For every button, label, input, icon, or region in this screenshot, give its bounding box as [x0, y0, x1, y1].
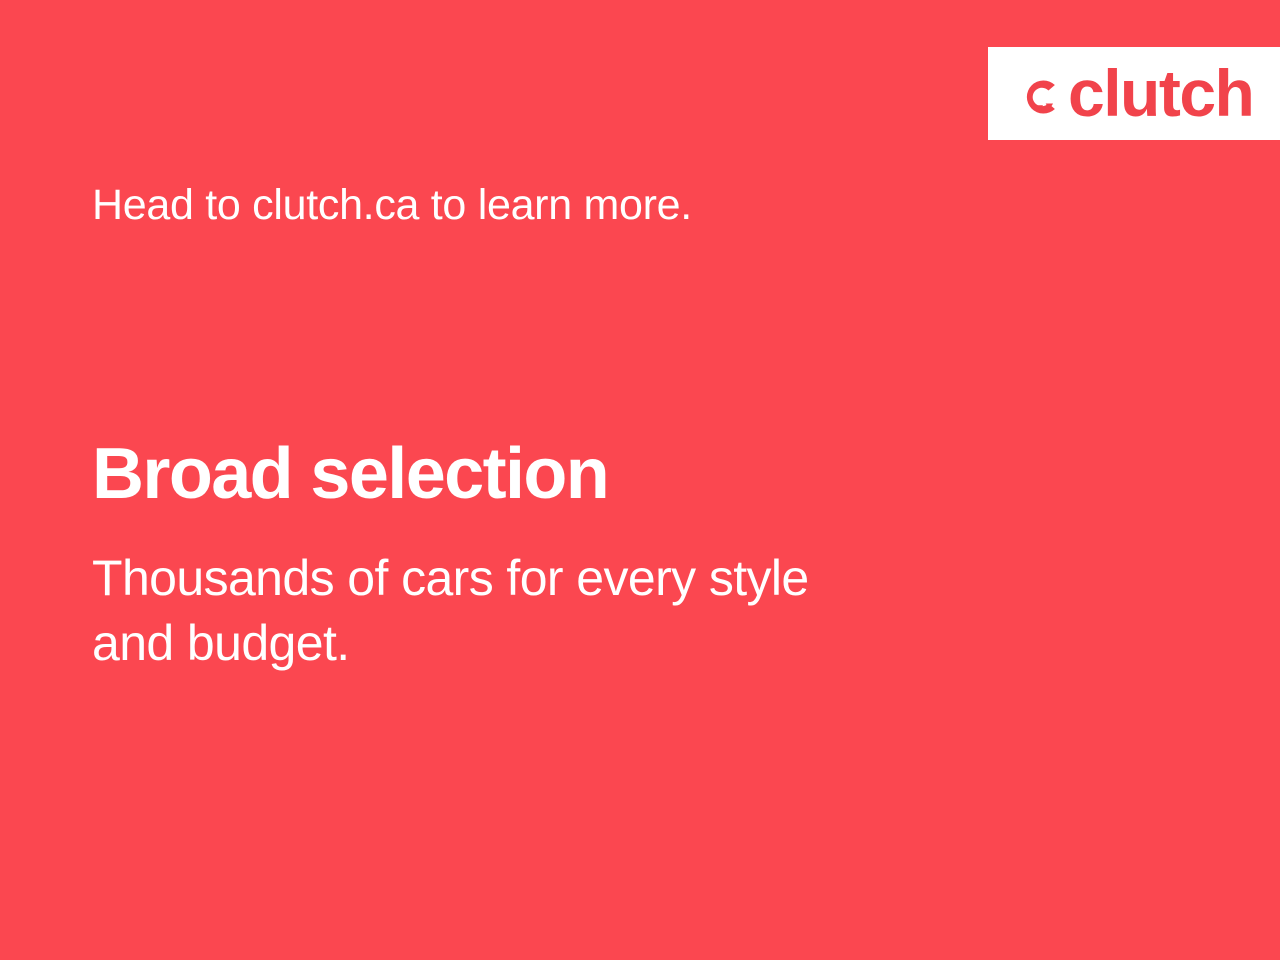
subcopy-block: Thousands of cars for every style and bu… [92, 546, 1052, 676]
subcopy-line-2: and budget. [92, 611, 1052, 676]
promo-slide: clutch Head to clutch.ca to learn more. … [0, 0, 1280, 960]
clutch-c-mark-icon [1019, 74, 1065, 120]
eyebrow-text: Head to clutch.ca to learn more. [92, 184, 692, 227]
clutch-wordmark: clutch [1068, 60, 1253, 126]
clutch-logo-box: clutch [988, 47, 1280, 140]
page-title: Broad selection [92, 438, 608, 510]
subcopy-line-1: Thousands of cars for every style [92, 546, 1052, 611]
